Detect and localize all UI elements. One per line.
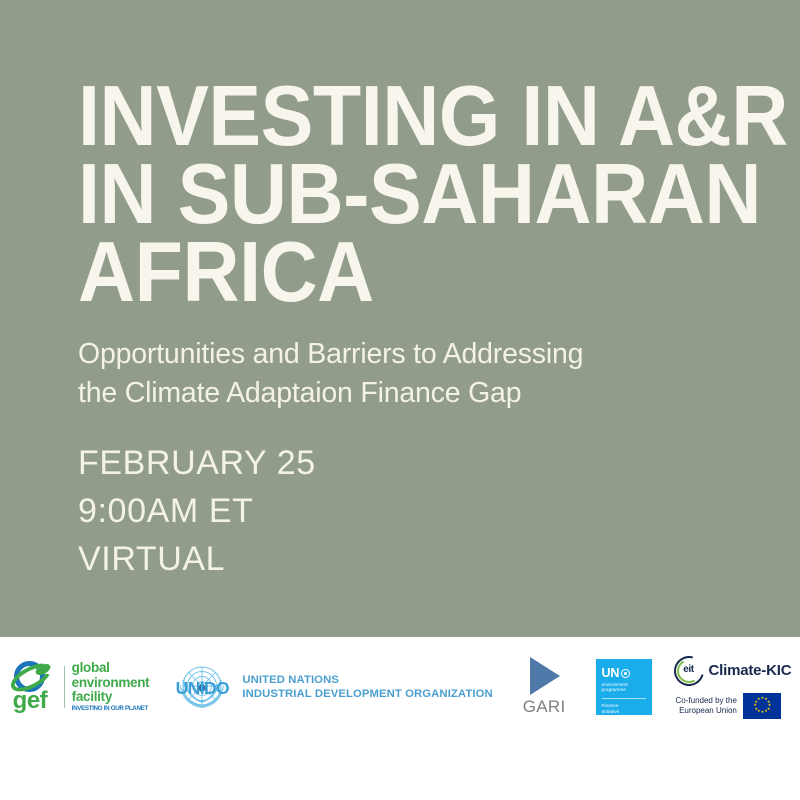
eit-climate-kic-logo: eit Climate-KIC Co-funded by the Europea…: [674, 651, 792, 723]
eu-star-icon: [757, 698, 760, 701]
unep-fi-logo: UN environment programme Finance Initiat…: [596, 651, 652, 723]
headline-line-1: INVESTING IN A&R: [78, 78, 694, 156]
un-laurel-globe-icon: UNIDO: [171, 656, 233, 718]
unep-initiative: Finance Initiative: [602, 703, 646, 714]
subtitle-line-1: Opportunities and Barriers to Addressing: [78, 335, 738, 374]
eu-star-icon: [754, 708, 757, 711]
unep-name-line-2: programme: [602, 687, 646, 693]
gef-name-line-1: global: [72, 661, 150, 675]
event-date: FEBRUARY 25: [78, 439, 740, 487]
gef-wordmark: gef: [13, 689, 48, 713]
hero-section: INVESTING IN A&R IN SUB-SAHARAN AFRICA O…: [0, 0, 800, 637]
page-title: INVESTING IN A&R IN SUB-SAHARAN AFRICA: [78, 78, 694, 313]
event-location: VIRTUAL: [78, 535, 740, 583]
gef-tagline: INVESTING IN OUR PLANET: [72, 704, 150, 713]
unep-name: environment programme: [602, 680, 646, 693]
eit-circle-icon: eit: [674, 656, 704, 686]
gef-globe-icon: gef: [9, 661, 55, 713]
sponsor-logo-row: gef global environment facility INVESTIN…: [0, 637, 800, 737]
gef-name-line-3: facility: [72, 690, 150, 704]
subtitle-line-2: the Climate Adaptaion Finance Gap: [78, 374, 738, 413]
gari-logo: GARI: [523, 651, 566, 723]
unido-name-line-1: UNITED NATIONS: [242, 673, 492, 687]
eu-star-icon: [753, 704, 756, 707]
gef-name: global environment facility INVESTING IN…: [72, 661, 150, 712]
event-time: 9:00AM ET: [78, 487, 740, 535]
eu-funding-line-2: European Union: [676, 706, 737, 716]
eu-funding-note: Co-funded by the European Union: [676, 696, 737, 716]
gari-play-triangle-icon: [530, 657, 560, 695]
page-subtitle: Opportunities and Barriers to Addressing…: [78, 313, 738, 413]
gef-divider: [64, 666, 65, 708]
eu-star-icon: [764, 710, 767, 713]
sponsor-logo-band: gef global environment facility INVESTIN…: [0, 637, 800, 800]
unido-wordmark: UNIDO: [171, 678, 233, 699]
gef-name-line-2: environment: [72, 676, 150, 690]
european-union-flag-icon: [743, 693, 781, 719]
unep-wordmark: UN: [602, 667, 620, 680]
eu-funding-line-1: Co-funded by the: [676, 696, 737, 706]
eu-star-icon: [757, 710, 760, 713]
eit-wordmark: eit: [674, 665, 704, 675]
unep-initiative-line-2: Initiative: [602, 709, 646, 715]
unido-logo: UNIDO UNITED NATIONS INDUSTRIAL DEVELOPM…: [171, 651, 492, 723]
event-details: FEBRUARY 25 9:00AM ET VIRTUAL: [78, 413, 740, 584]
unep-fi-badge: UN environment programme Finance Initiat…: [596, 659, 652, 715]
unido-name-line-2: INDUSTRIAL DEVELOPMENT ORGANIZATION: [242, 687, 492, 701]
gef-logo: gef global environment facility INVESTIN…: [9, 651, 150, 723]
unep-emblem-icon: [621, 669, 630, 678]
climate-kic-name: Climate-KIC: [709, 662, 792, 679]
unido-name: UNITED NATIONS INDUSTRIAL DEVELOPMENT OR…: [242, 673, 492, 701]
gari-wordmark: GARI: [523, 695, 566, 717]
unep-divider: [602, 698, 646, 699]
eu-star-icon: [754, 701, 757, 704]
event-poster: INVESTING IN A&R IN SUB-SAHARAN AFRICA O…: [0, 0, 800, 800]
headline-line-3: AFRICA: [78, 234, 694, 312]
headline-line-2: IN SUB-SAHARAN: [78, 156, 694, 234]
